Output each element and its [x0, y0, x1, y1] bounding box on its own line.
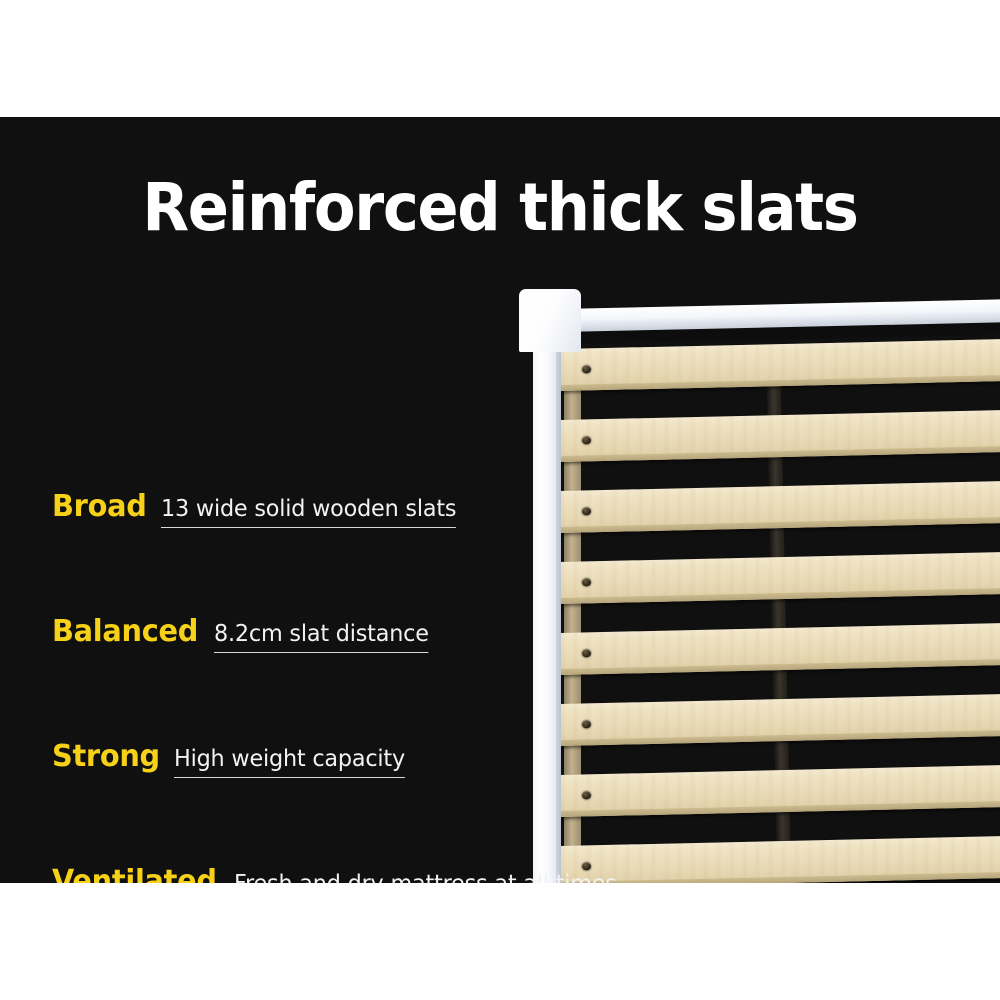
wooden-slat — [560, 481, 1000, 533]
page-title: Reinforced thick slats — [40, 175, 960, 241]
wooden-slat — [560, 694, 1000, 746]
feature-term: Ventilated — [52, 864, 217, 883]
feature-item-ventilated: Ventilated Fresh and dry mattress at all… — [52, 864, 628, 883]
wooden-slat — [560, 552, 1000, 604]
feature-item-strong: Strong High weight capacity — [52, 739, 413, 778]
wooden-slat — [560, 339, 1000, 391]
feature-description: Fresh and dry mattress at all times — [234, 871, 617, 883]
feature-term: Balanced — [52, 614, 198, 649]
feature-description: High weight capacity — [174, 746, 405, 778]
wooden-slat — [560, 623, 1000, 675]
feature-description: 13 wide solid wooden slats — [161, 496, 456, 528]
feature-item-broad: Broad 13 wide solid wooden slats — [52, 489, 465, 528]
feature-item-balanced: Balanced 8.2cm slat distance — [52, 614, 436, 653]
corner-post-leg-edge — [556, 349, 561, 883]
corner-post-head — [519, 289, 581, 352]
wooden-slat — [560, 765, 1000, 817]
black-feature-panel: Reinforced thick slats Broad 13 wide sol… — [0, 117, 1000, 883]
feature-term: Strong — [52, 739, 160, 774]
feature-description: 8.2cm slat distance — [214, 621, 429, 653]
feature-term: Broad — [52, 489, 147, 524]
wooden-slat — [560, 410, 1000, 462]
image-canvas: Reinforced thick slats Broad 13 wide sol… — [0, 0, 1000, 1000]
bottom-white-margin — [0, 883, 1000, 1000]
